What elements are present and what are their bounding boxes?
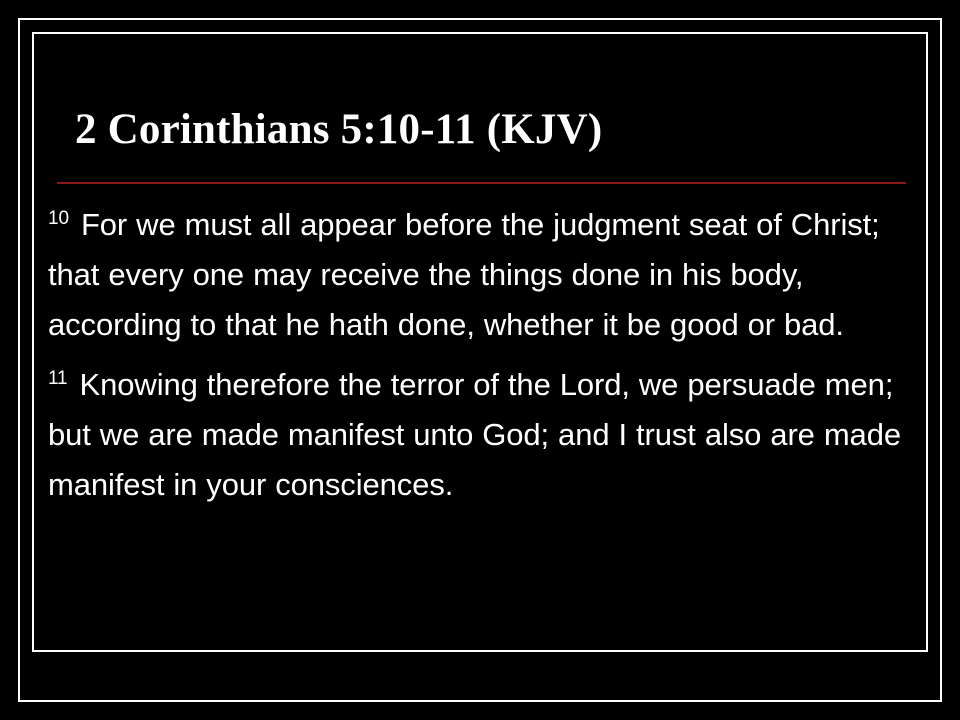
verse-text: For we must all appear before the judgme… bbox=[48, 207, 880, 342]
verse-number: 11 bbox=[48, 368, 71, 389]
verse-number: 10 bbox=[48, 208, 72, 229]
verse-text: Knowing therefore the terror of the Lord… bbox=[48, 367, 901, 502]
scripture-body: 10 For we must all appear before the jud… bbox=[48, 200, 918, 510]
title-divider-rule bbox=[57, 182, 906, 184]
verse-paragraph: 11 Knowing therefore the terror of the L… bbox=[48, 360, 918, 510]
slide-title: 2 Corinthians 5:10-11 (KJV) bbox=[75, 104, 602, 156]
slide-content: 2 Corinthians 5:10-11 (KJV) 10 For we mu… bbox=[34, 34, 926, 650]
scripture-slide: 2 Corinthians 5:10-11 (KJV) 10 For we mu… bbox=[0, 0, 960, 720]
verse-paragraph: 10 For we must all appear before the jud… bbox=[48, 200, 918, 350]
